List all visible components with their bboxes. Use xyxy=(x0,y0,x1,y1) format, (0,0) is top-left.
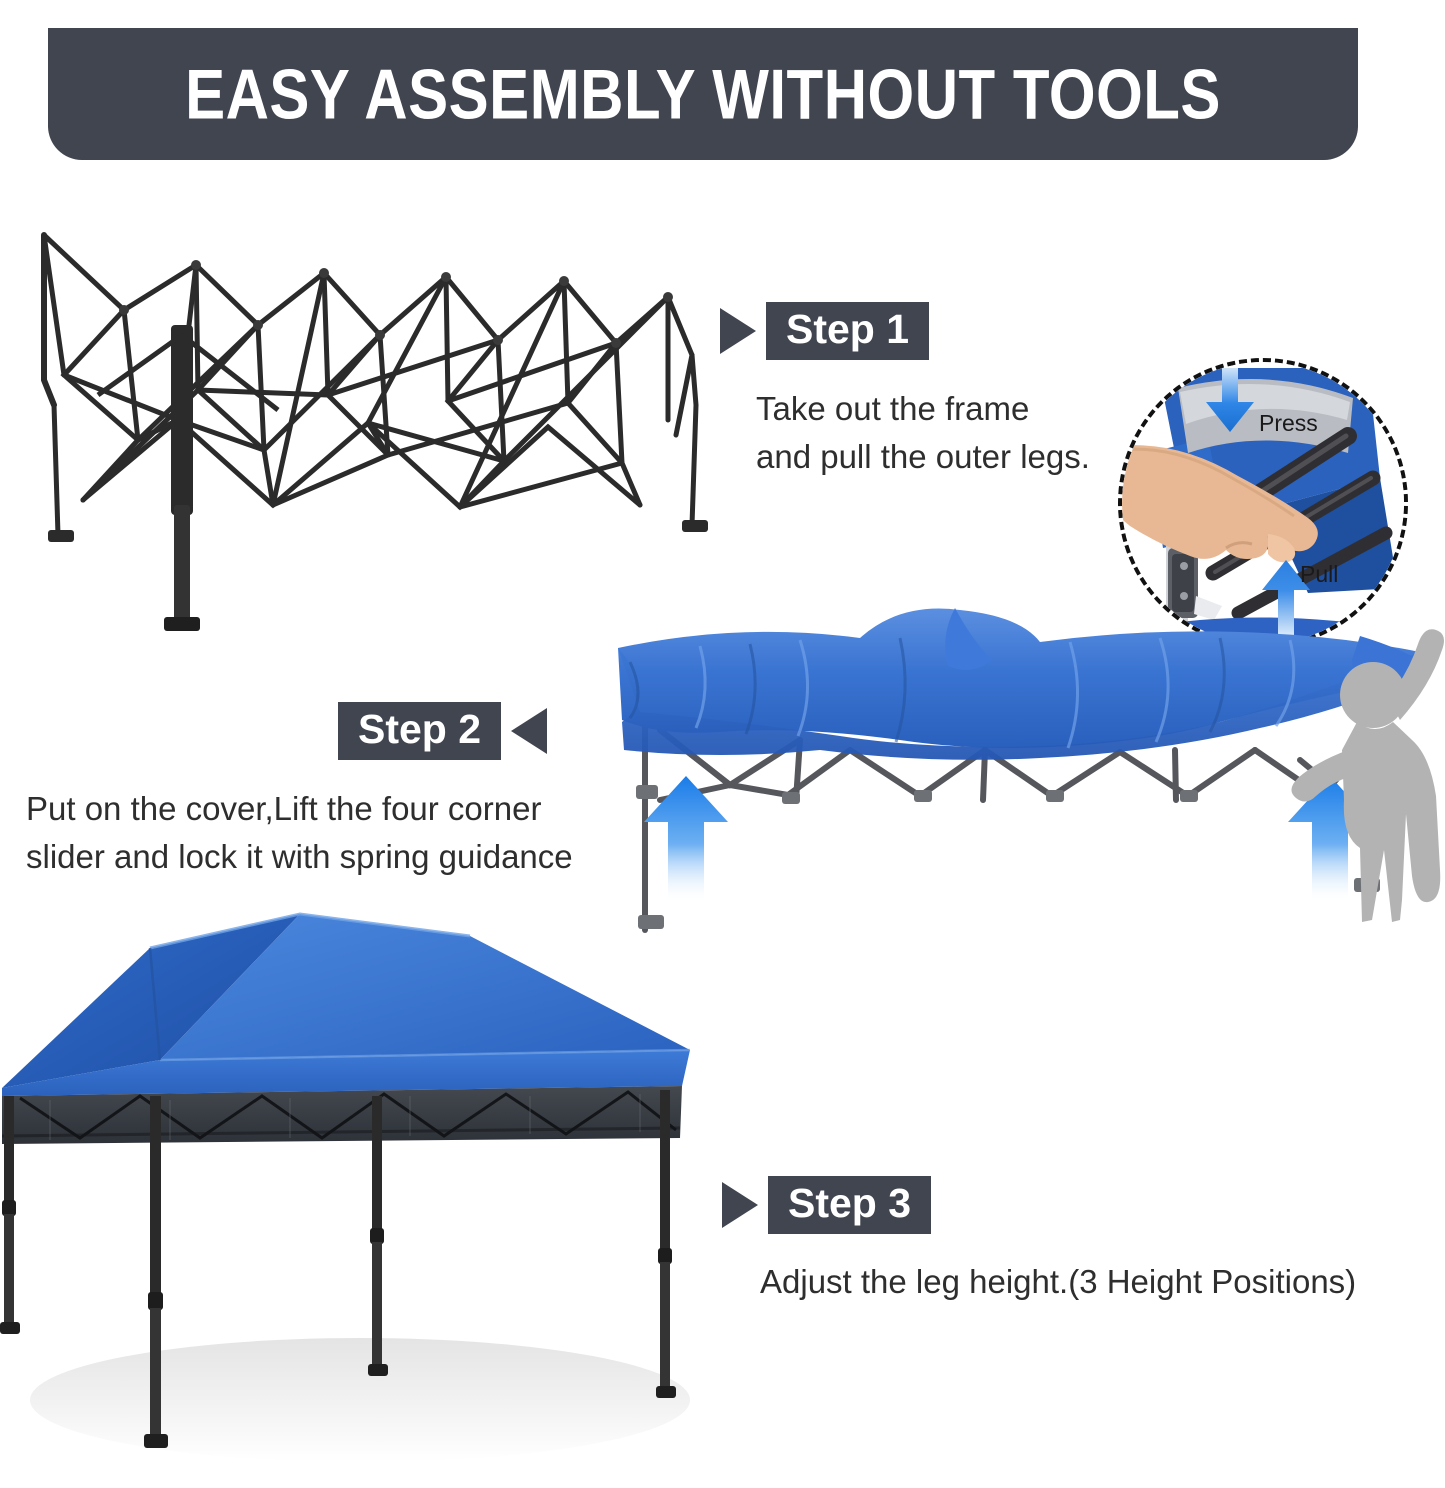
step-3-chip: Step 3 xyxy=(722,1176,931,1234)
header-banner: EASY ASSEMBLY WITHOUT TOOLS xyxy=(48,28,1358,160)
step-3-line-1: Adjust the leg height.(3 Height Position… xyxy=(760,1258,1356,1306)
step-2-chip: Step 2 xyxy=(338,702,547,760)
product-instruction-infographic: EASY ASSEMBLY WITHOUT TOOLS xyxy=(0,0,1445,1488)
step-1-line-1: Take out the frame xyxy=(756,385,1029,433)
step-1-line-2: and pull the outer legs. xyxy=(756,433,1090,481)
triangle-right-icon xyxy=(722,1182,758,1228)
triangle-right-icon xyxy=(720,308,756,354)
assembled-canopy-photo xyxy=(0,900,720,1480)
step-2-label: Step 2 xyxy=(338,702,501,760)
step-3-label: Step 3 xyxy=(768,1176,931,1234)
press-label: Press xyxy=(1259,410,1318,437)
step-2-line-2: slider and lock it with spring guidance xyxy=(26,833,573,881)
pull-label: Pull xyxy=(1300,561,1338,588)
frame-photo xyxy=(28,205,718,635)
step-2-line-1: Put on the cover,Lift the four corner xyxy=(26,785,541,833)
triangle-left-icon xyxy=(511,708,547,754)
step-1-chip: Step 1 xyxy=(720,302,929,360)
canopy-cover-photo xyxy=(600,600,1445,945)
step-1-label: Step 1 xyxy=(766,302,929,360)
page-title: EASY ASSEMBLY WITHOUT TOOLS xyxy=(185,53,1221,134)
